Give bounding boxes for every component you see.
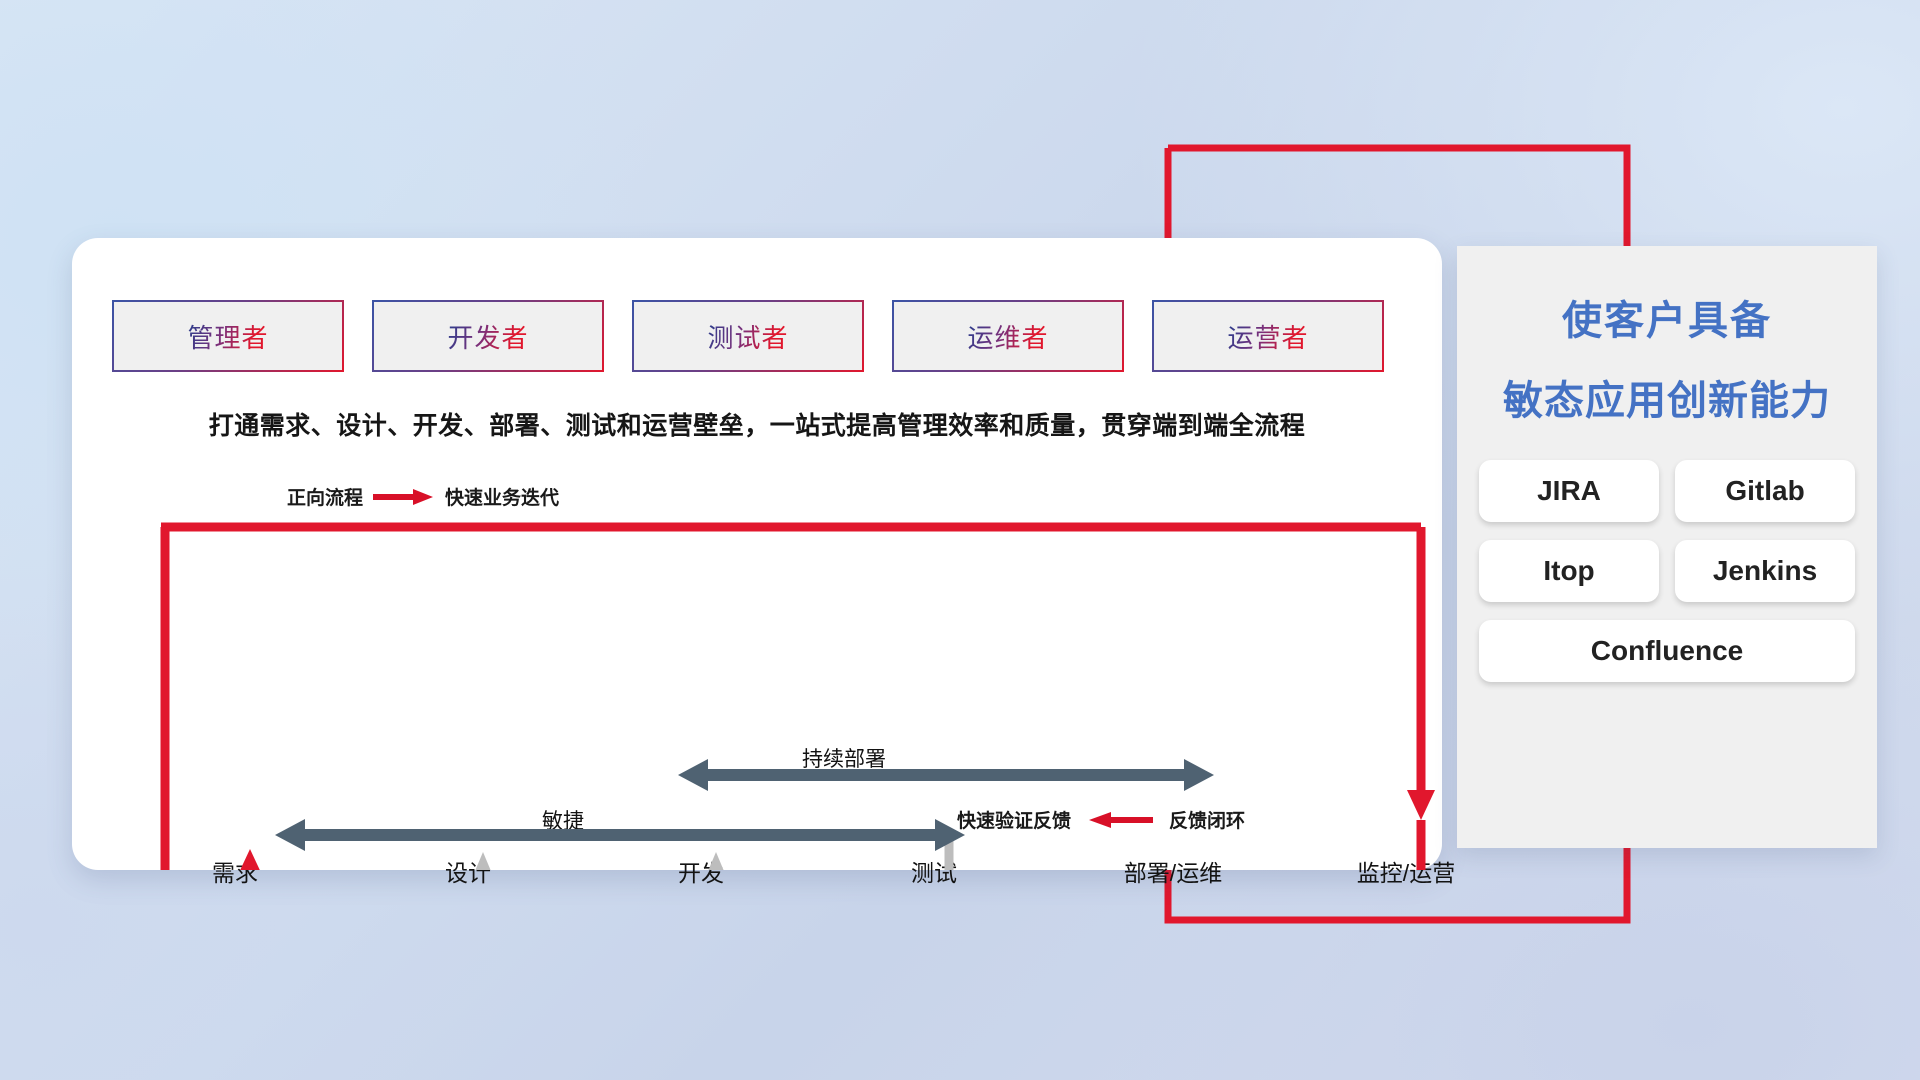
pipeline-diagram xyxy=(72,238,1442,870)
tool-chip-itop[interactable]: Itop xyxy=(1479,540,1659,602)
tool-chip-grid: JIRA Gitlab Itop Jenkins Confluence xyxy=(1457,460,1877,682)
tool-chip-gitlab[interactable]: Gitlab xyxy=(1675,460,1855,522)
slide-canvas: 管理者 开发者 测试者 运维者 运营者 打通需求、设计、开发、部署、测试和运营壁… xyxy=(0,0,1920,1080)
steel-double-arrow-agile xyxy=(275,819,965,851)
steel-double-arrow-continuous-deployment xyxy=(678,759,1214,791)
red-pipeline-loop xyxy=(161,527,1435,870)
tool-chip-jira[interactable]: JIRA xyxy=(1479,460,1659,522)
panel-heading-line1: 使客户具备 xyxy=(1457,288,1877,346)
tool-chip-jenkins[interactable]: Jenkins xyxy=(1675,540,1855,602)
value-panel: 使客户具备 敏态应用创新能力 JIRA Gitlab Itop Jenkins … xyxy=(1457,246,1877,848)
gray-feedback-stems xyxy=(470,838,949,870)
panel-heading-line2: 敏态应用创新能力 xyxy=(1457,368,1877,426)
main-content-card: 管理者 开发者 测试者 运维者 运营者 打通需求、设计、开发、部署、测试和运营壁… xyxy=(72,238,1442,870)
tool-chip-confluence[interactable]: Confluence xyxy=(1479,620,1855,682)
